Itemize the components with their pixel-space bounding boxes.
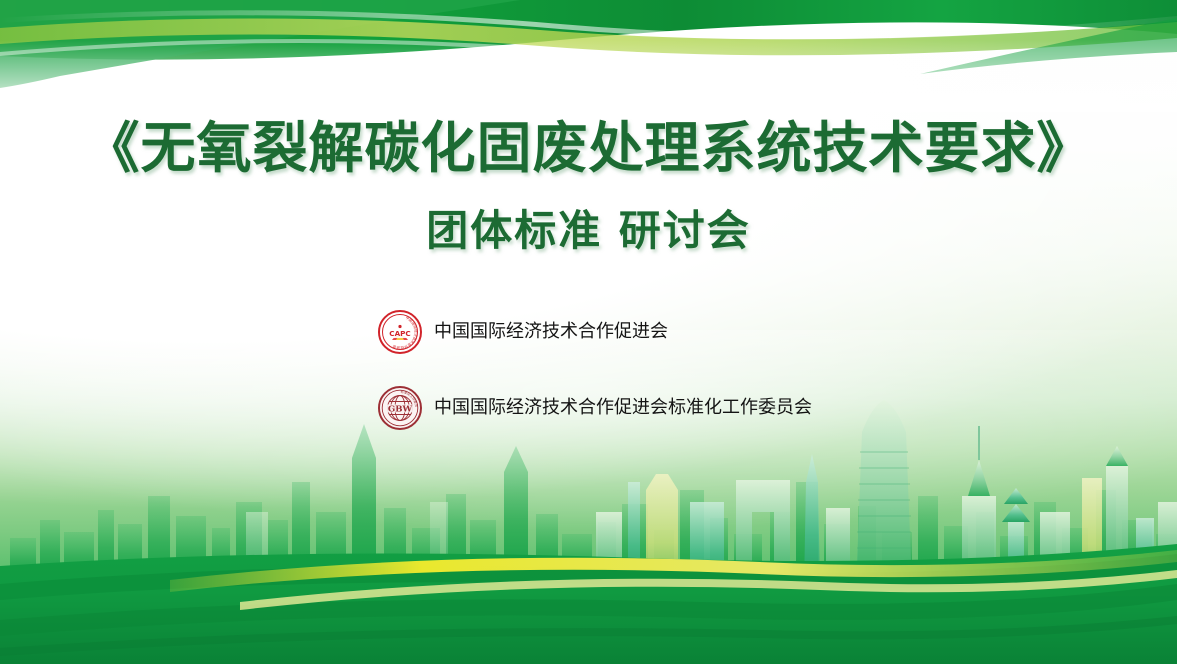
page-title: 《无氧裂解碳化固废处理系统技术要求》 — [0, 112, 1177, 184]
svg-text:GBW: GBW — [388, 405, 413, 415]
organization-name: 中国国际经济技术合作促进会 — [434, 320, 668, 344]
organization-row: 中国国际经济技术合作促进会 CAPC 中国国际经济技术合作促进会 — [378, 308, 1118, 356]
svg-text:CAPC: CAPC — [389, 329, 410, 338]
organization-row: 标准化工作委员会 GBW 中国国际经济技术合作促进会标准化工作委员会 — [378, 384, 1118, 432]
gbw-seal-icon: 标准化工作委员会 GBW — [378, 386, 422, 430]
organization-name: 中国国际经济技术合作促进会标准化工作委员会 — [434, 396, 812, 420]
organization-list: 中国国际经济技术合作促进会 CAPC 中国国际经济技术合作促进会 — [378, 308, 1118, 432]
capc-seal-icon: 中国国际经济技术合作促进会 CAPC — [378, 310, 422, 354]
page-subtitle: 团体标准 研讨会 — [0, 202, 1177, 260]
slide-content: 《无氧裂解碳化固废处理系统技术要求》 团体标准 研讨会 中国国际经济技术合作促进… — [0, 0, 1177, 664]
presentation-slide: 《无氧裂解碳化固废处理系统技术要求》 团体标准 研讨会 中国国际经济技术合作促进… — [0, 0, 1177, 664]
